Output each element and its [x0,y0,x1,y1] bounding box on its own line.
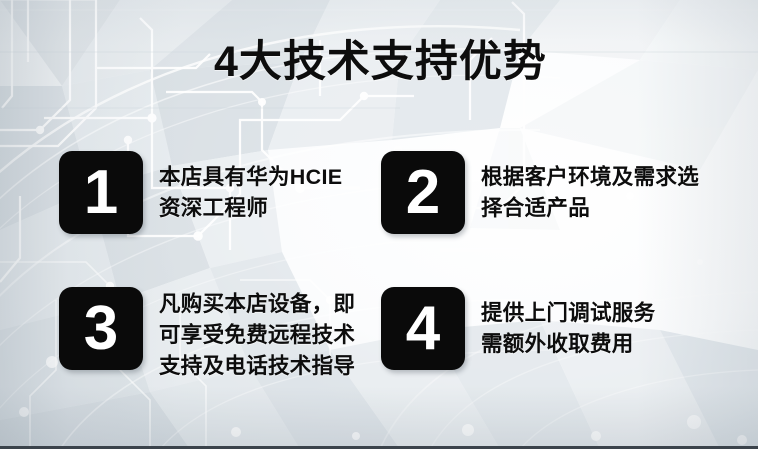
feature-text-line: 根据客户环境及需求选 [481,162,699,193]
feature-text-2: 根据客户环境及需求选 择合适产品 [481,151,699,224]
feature-text-line: 提供上门调试服务 [481,298,655,329]
feature-text-line: 凡购买本店设备，即 [159,289,355,320]
feature-text-3: 凡购买本店设备，即 可享受免费远程技术 支持及电话技术指导 [159,287,355,382]
feature-number-badge-1: 1 [59,151,143,234]
feature-text-line: 需额外收取费用 [481,329,655,360]
feature-text-1: 本店具有华为HCIE 资深工程师 [159,151,342,224]
feature-number-badge-2: 2 [381,151,465,234]
feature-text-line: 可享受免费远程技术 [159,320,355,351]
promo-banner: 4大技术支持优势 1 本店具有华为HCIE 资深工程师 2 根据客户环境及需求选… [0,0,758,449]
page-title: 4大技术支持优势 [214,40,547,85]
feature-text-line: 支持及电话技术指导 [159,351,355,382]
feature-text-4: 提供上门调试服务 需额外收取费用 [481,287,655,360]
feature-number-badge-3: 3 [59,287,143,370]
feature-item-2: 2 根据客户环境及需求选 择合适产品 [381,151,699,234]
feature-text-line: 本店具有华为HCIE [159,162,342,193]
feature-number-badge-4: 4 [381,287,465,370]
feature-item-4: 4 提供上门调试服务 需额外收取费用 [381,287,655,370]
feature-item-1: 1 本店具有华为HCIE 资深工程师 [59,151,342,234]
feature-text-line: 资深工程师 [159,193,342,224]
feature-item-3: 3 凡购买本店设备，即 可享受免费远程技术 支持及电话技术指导 [59,287,355,382]
feature-text-line: 择合适产品 [481,193,699,224]
